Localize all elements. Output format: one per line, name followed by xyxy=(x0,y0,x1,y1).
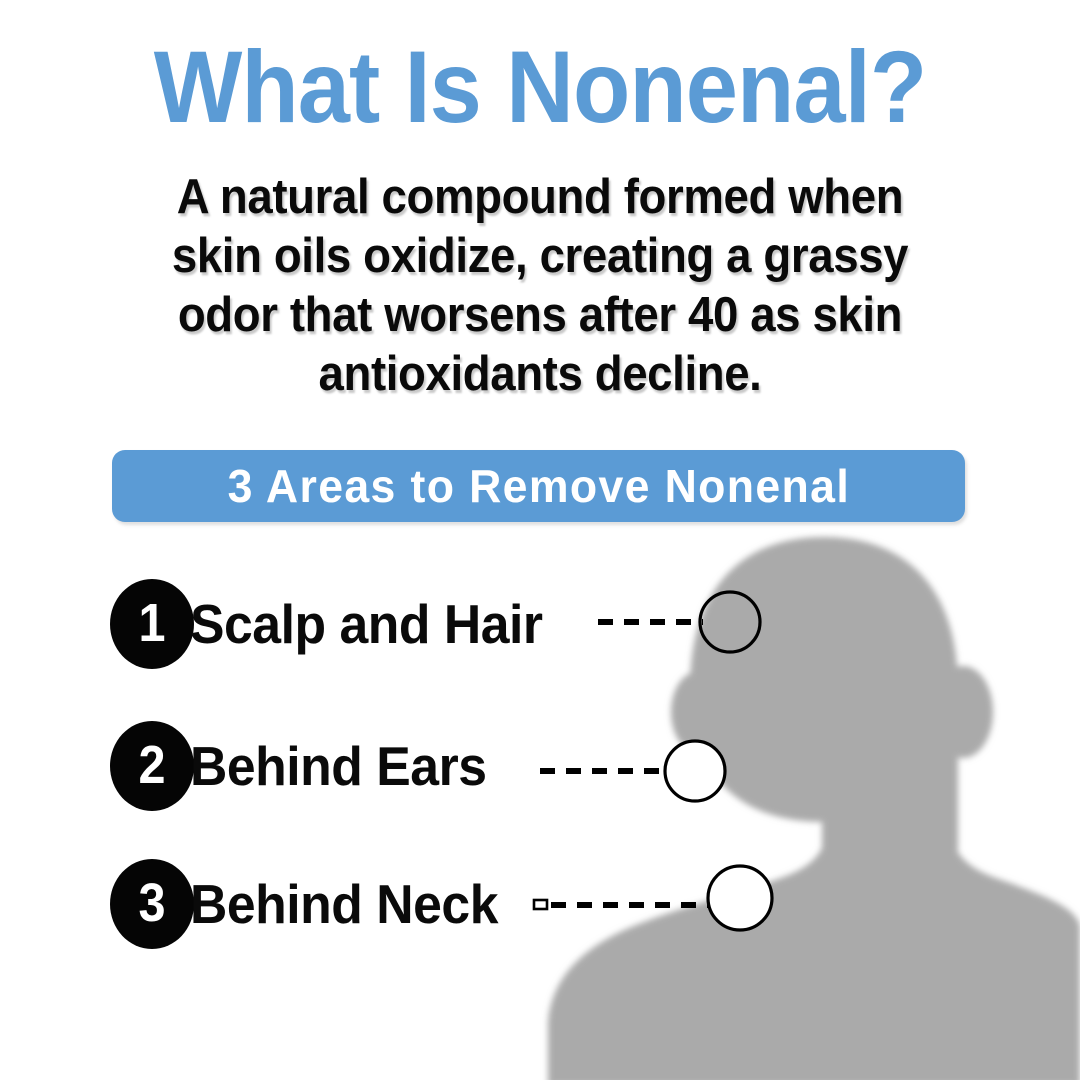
infographic-canvas: What Is Nonenal? A natural compound form… xyxy=(0,0,1080,1080)
list-item-scalp-and-hair[interactable]: 1 Scalp and Hair xyxy=(110,578,565,670)
number-badge-1: 1 xyxy=(110,579,194,669)
list-item-behind-neck[interactable]: 3 Behind Neck xyxy=(110,858,518,950)
number-badge-2: 2 xyxy=(110,721,194,811)
list-item-behind-ears[interactable]: 2 Behind Ears xyxy=(110,720,505,812)
number-badge-2-value: 2 xyxy=(138,738,165,792)
list-item-label-1: Scalp and Hair xyxy=(190,592,543,656)
list-item-label-2: Behind Ears xyxy=(190,734,487,798)
number-badge-3-value: 3 xyxy=(138,876,165,930)
number-badge-3: 3 xyxy=(110,859,194,949)
areas-list: 1 Scalp and Hair 2 Behind Ears 3 Behind … xyxy=(0,0,1080,1080)
list-item-label-3: Behind Neck xyxy=(190,872,498,936)
number-badge-1-value: 1 xyxy=(138,596,165,650)
